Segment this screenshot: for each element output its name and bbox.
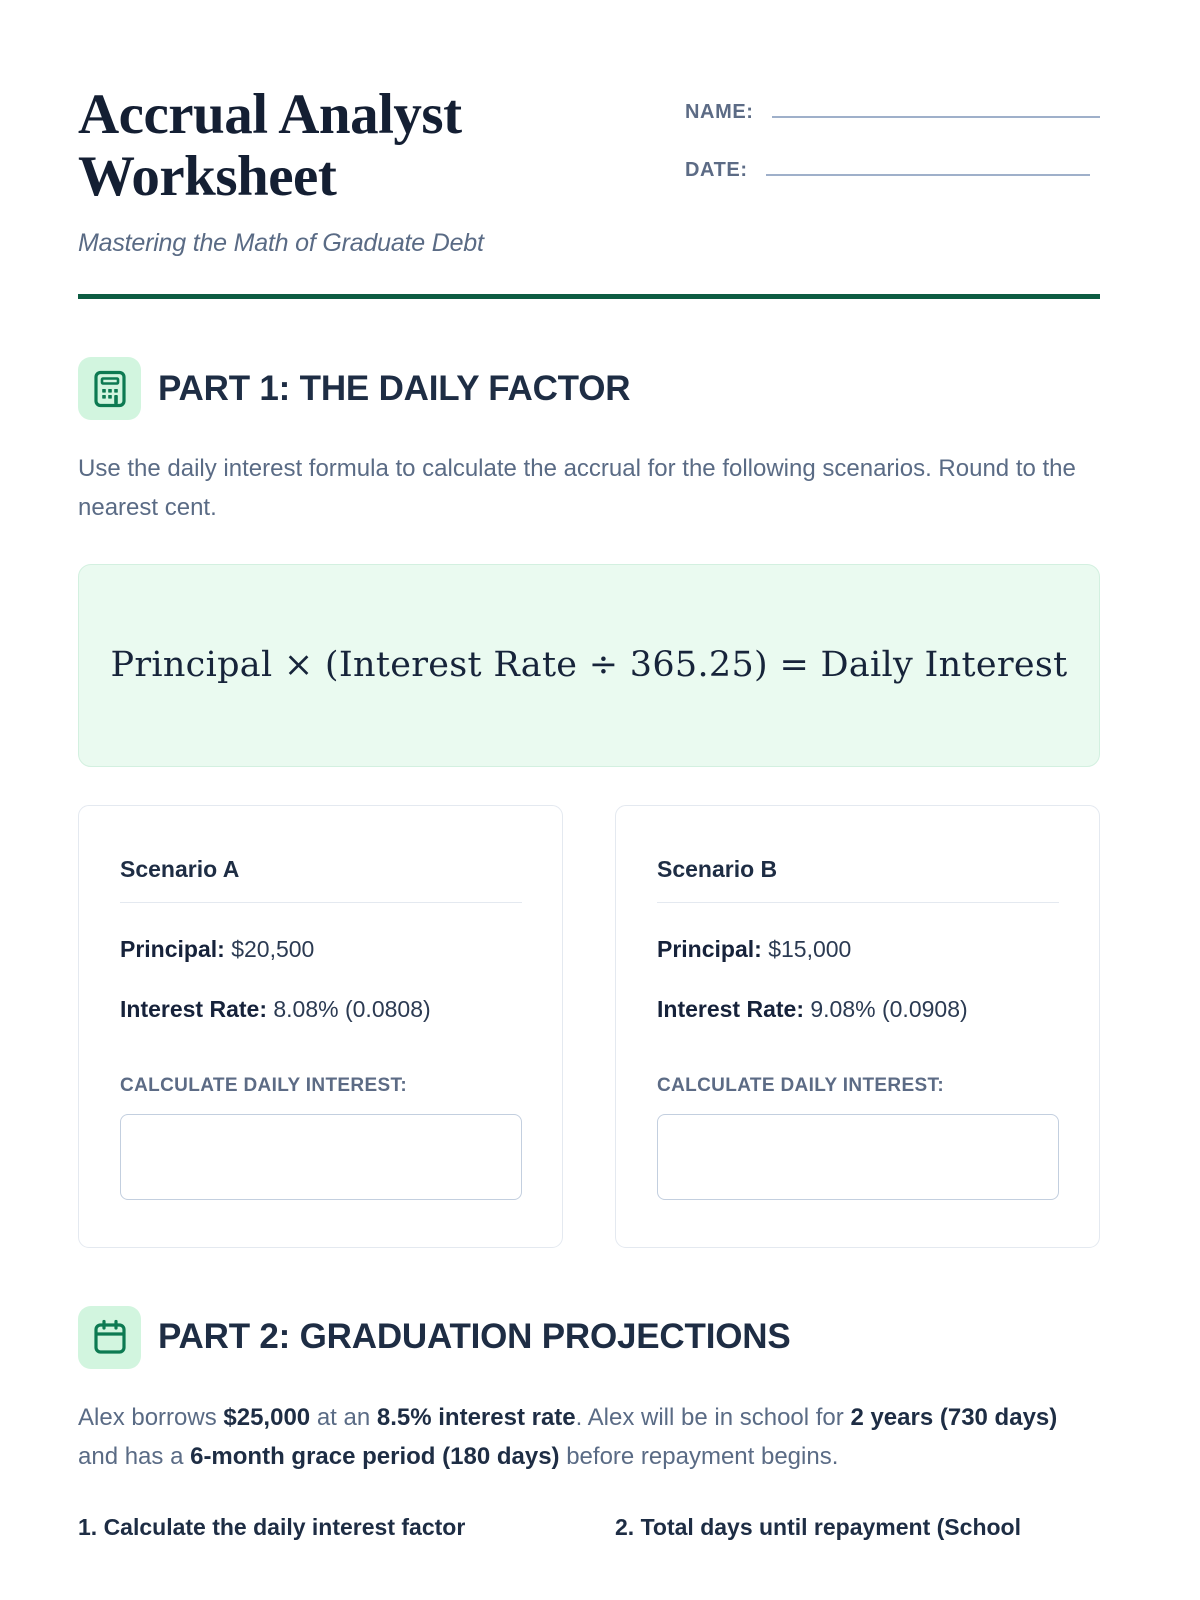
rate-label: Interest Rate: — [657, 996, 804, 1022]
worksheet-header: Accrual Analyst Worksheet Mastering the … — [78, 78, 1100, 258]
card-divider — [657, 902, 1059, 903]
scenario-seg3: . Alex will be in school for — [576, 1404, 851, 1431]
part2-tasks: 1. Calculate the daily interest factor 2… — [78, 1511, 1100, 1544]
rate-value: 8.08% (0.0808) — [273, 996, 430, 1022]
calculator-icon — [78, 357, 141, 420]
daily-interest-formula: Principal × (Interest Rate ÷ 365.25) = D… — [110, 645, 1067, 685]
rate-row: Interest Rate: 9.08% (0.0908) — [657, 996, 1059, 1023]
scenario-card-b: Scenario B Principal: $15,000 Interest R… — [615, 805, 1100, 1248]
header-divider — [78, 294, 1100, 299]
scenario-seg5: before repayment begins. — [560, 1443, 839, 1470]
rate-label: Interest Rate: — [120, 996, 267, 1022]
daily-interest-answer-box[interactable] — [657, 1114, 1059, 1200]
calendar-icon — [78, 1306, 141, 1369]
name-label: NAME: — [685, 101, 754, 124]
rate-row: Interest Rate: 8.08% (0.0808) — [120, 996, 522, 1023]
worksheet-page: Accrual Analyst Worksheet Mastering the … — [0, 0, 1200, 1600]
loan-amount: $25,000 — [223, 1404, 310, 1431]
scenario-title: Scenario A — [120, 856, 522, 883]
formula-box: Principal × (Interest Rate ÷ 365.25) = D… — [78, 564, 1100, 767]
page-subtitle: Mastering the Math of Graduate Debt — [78, 229, 638, 258]
part2-scenario-text: Alex borrows $25,000 at an 8.5% interest… — [78, 1399, 1088, 1477]
scenario-seg1: Alex borrows — [78, 1404, 223, 1431]
part2-heading: PART 2: GRADUATION PROJECTIONS — [78, 1306, 1100, 1369]
principal-value: $20,500 — [231, 936, 314, 962]
scenario-title: Scenario B — [657, 856, 1059, 883]
grace-period: 6-month grace period (180 days) — [190, 1443, 559, 1470]
school-duration: 2 years (730 days) — [850, 1404, 1057, 1431]
date-field-row: DATE: — [685, 150, 1100, 182]
header-fields: NAME: DATE: — [685, 78, 1100, 208]
scenario-cards: Scenario A Principal: $20,500 Interest R… — [78, 805, 1100, 1248]
rate-value: 9.08% (0.0908) — [810, 996, 967, 1022]
name-field-row: NAME: — [685, 92, 1100, 124]
principal-label: Principal: — [120, 936, 225, 962]
daily-interest-answer-box[interactable] — [120, 1114, 522, 1200]
loan-rate: 8.5% interest rate — [377, 1404, 576, 1431]
answer-label: CALCULATE DAILY INTEREST: — [120, 1075, 522, 1097]
header-title-block: Accrual Analyst Worksheet Mastering the … — [78, 78, 638, 258]
card-divider — [120, 902, 522, 903]
scenario-seg4: and has a — [78, 1443, 190, 1470]
part2-title: PART 2: GRADUATION PROJECTIONS — [158, 1317, 790, 1357]
part1-title: PART 1: THE DAILY FACTOR — [158, 369, 630, 409]
principal-value: $15,000 — [768, 936, 851, 962]
part1-heading: PART 1: THE DAILY FACTOR — [78, 357, 1100, 420]
date-label: DATE: — [685, 159, 748, 182]
principal-row: Principal: $20,500 — [120, 936, 522, 963]
scenario-card-a: Scenario A Principal: $20,500 Interest R… — [78, 805, 563, 1248]
answer-label: CALCULATE DAILY INTEREST: — [657, 1075, 1059, 1097]
principal-label: Principal: — [657, 936, 762, 962]
date-input-line[interactable] — [766, 150, 1090, 176]
part1-instructions: Use the daily interest formula to calcul… — [78, 450, 1078, 528]
page-title: Accrual Analyst Worksheet — [78, 84, 508, 207]
scenario-seg2: at an — [310, 1404, 377, 1431]
task-item-1: 1. Calculate the daily interest factor — [78, 1511, 563, 1544]
principal-row: Principal: $15,000 — [657, 936, 1059, 963]
task-item-2: 2. Total days until repayment (School — [615, 1511, 1100, 1544]
name-input-line[interactable] — [772, 92, 1100, 118]
